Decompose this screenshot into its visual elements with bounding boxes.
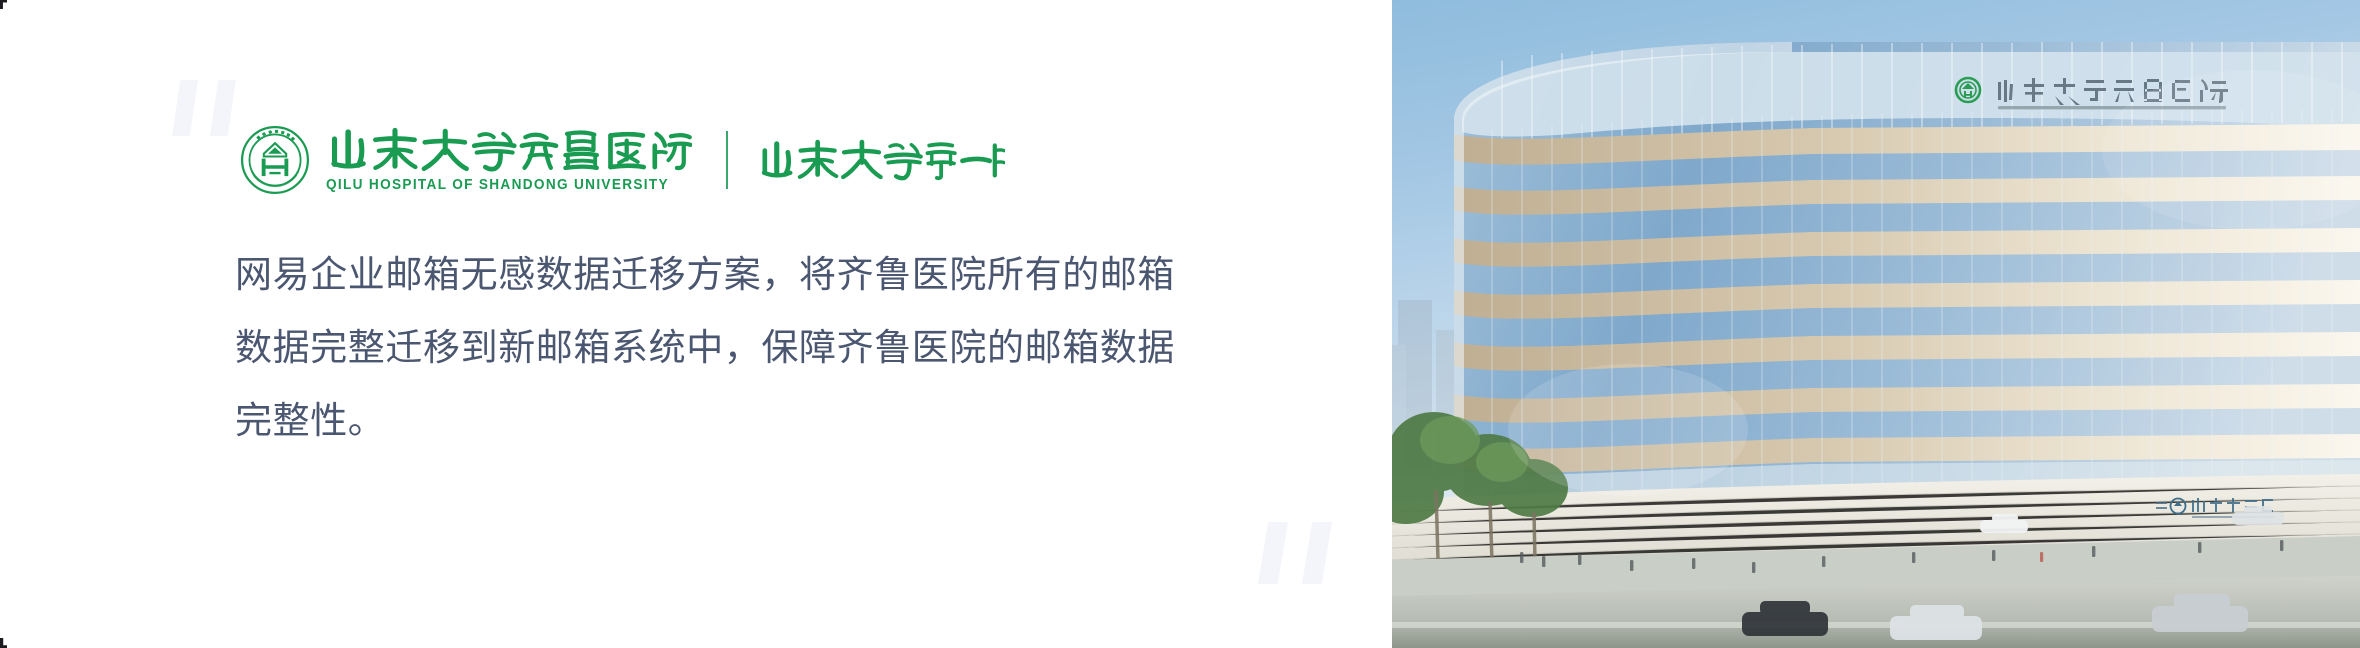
quote-stroke-2 bbox=[1302, 522, 1332, 584]
logo-primary-chinese-wordmark bbox=[326, 127, 692, 173]
case-study-banner: QILU HOSPITAL OF SHANDONG UNIVERSITY bbox=[0, 0, 2360, 648]
logo-primary-english-subtitle: QILU HOSPITAL OF SHANDONG UNIVERSITY bbox=[326, 177, 670, 193]
hospital-logo-lockup: QILU HOSPITAL OF SHANDONG UNIVERSITY bbox=[240, 120, 1005, 200]
qilu-hospital-seal-emblem bbox=[240, 125, 310, 195]
quote-stroke-2 bbox=[210, 80, 236, 136]
quote-stroke-1 bbox=[172, 80, 198, 136]
qilu-hospital-building-photo bbox=[1392, 0, 2360, 648]
description-line-1: 网易企业邮箱无感数据迁移方案，将齐鲁医院所有的邮箱 bbox=[235, 238, 1305, 311]
description-line-3: 完整性。 bbox=[235, 384, 1305, 457]
left-text-panel: QILU HOSPITAL OF SHANDONG UNIVERSITY bbox=[0, 0, 1392, 648]
building-illustration bbox=[1392, 0, 2360, 648]
quote-stroke-1 bbox=[1258, 522, 1288, 584]
logo-secondary-chinese-wordmark bbox=[758, 137, 1005, 183]
logo-divider bbox=[726, 131, 728, 189]
description-paragraph: 网易企业邮箱无感数据迁移方案，将齐鲁医院所有的邮箱 数据完整迁移到新邮箱系统中，… bbox=[235, 238, 1305, 457]
logo-wordmark-primary: QILU HOSPITAL OF SHANDONG UNIVERSITY bbox=[326, 124, 692, 196]
description-line-2: 数据完整迁移到新邮箱系统中，保障齐鲁医院的邮箱数据 bbox=[235, 311, 1305, 384]
opening-quote-mark bbox=[172, 80, 236, 136]
closing-quote-mark bbox=[1258, 522, 1332, 584]
